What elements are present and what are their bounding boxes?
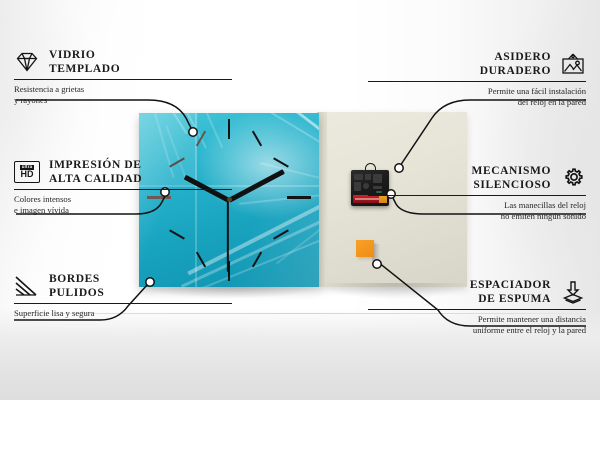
feature-impresion-alta-calidad[interactable]: ultra HD IMPRESIÓN DE ALTA CALIDAD Color… bbox=[14, 158, 232, 216]
feature-title: MECANISMO SILENCIOSO bbox=[471, 164, 551, 192]
feature-vidrio-templado[interactable]: VIDRIO TEMPLADO Resistencia a grietas y … bbox=[14, 48, 232, 106]
leader-line-asidero bbox=[400, 100, 586, 166]
feature-asidero-duradero[interactable]: ASIDERO DURADERO Permite una fácil insta… bbox=[368, 50, 586, 108]
feature-title: ESPACIADOR DE ESPUMA bbox=[470, 278, 551, 306]
feature-divider bbox=[14, 189, 232, 190]
feature-divider bbox=[368, 81, 586, 82]
hanging-picture-icon bbox=[560, 52, 586, 76]
feature-bordes-pulidos[interactable]: BORDES PULIDOS Superficie lisa y segura bbox=[14, 272, 232, 319]
feature-header: MECANISMO SILENCIOSO bbox=[368, 164, 586, 192]
press-down-layers-icon bbox=[560, 280, 586, 304]
feature-divider bbox=[14, 79, 232, 80]
feature-title: BORDES PULIDOS bbox=[49, 272, 104, 300]
leader-dot-vidrio bbox=[189, 128, 197, 136]
feature-description: Permite una fácil instalación del reloj … bbox=[368, 86, 586, 107]
ultra-hd-icon: ultra HD bbox=[14, 161, 40, 183]
feature-description: Colores intensos e imagen vívida bbox=[14, 194, 232, 215]
feature-header: ultra HD IMPRESIÓN DE ALTA CALIDAD bbox=[14, 158, 232, 186]
feature-description: Resistencia a grietas y rayones bbox=[14, 84, 232, 105]
feature-mecanismo-silencioso[interactable]: MECANISMO SILENCIOSO Las manecillas del … bbox=[368, 164, 586, 222]
feature-header: ASIDERO DURADERO bbox=[368, 50, 586, 78]
diamond-icon bbox=[14, 50, 40, 74]
feature-title: VIDRIO TEMPLADO bbox=[49, 48, 120, 76]
feature-header: ESPACIADOR DE ESPUMA bbox=[368, 278, 586, 306]
feature-header: BORDES PULIDOS bbox=[14, 272, 232, 300]
feature-divider bbox=[368, 195, 586, 196]
feature-header: VIDRIO TEMPLADO bbox=[14, 48, 232, 76]
feature-description: Las manecillas del reloj no emiten ningú… bbox=[368, 200, 586, 221]
feature-espaciador-de-espuma[interactable]: ESPACIADOR DE ESPUMA Permite mantener un… bbox=[368, 278, 586, 336]
leader-dot-espaciador bbox=[373, 260, 381, 268]
feature-description: Superficie lisa y segura bbox=[14, 308, 232, 319]
feature-divider bbox=[368, 309, 586, 310]
feature-title: ASIDERO DURADERO bbox=[480, 50, 551, 78]
feature-title: IMPRESIÓN DE ALTA CALIDAD bbox=[49, 158, 142, 186]
feature-divider bbox=[14, 303, 232, 304]
diagonal-lines-icon bbox=[14, 274, 40, 298]
feature-description: Permite mantener una distancia uniforme … bbox=[368, 314, 586, 335]
gear-icon bbox=[560, 166, 586, 190]
